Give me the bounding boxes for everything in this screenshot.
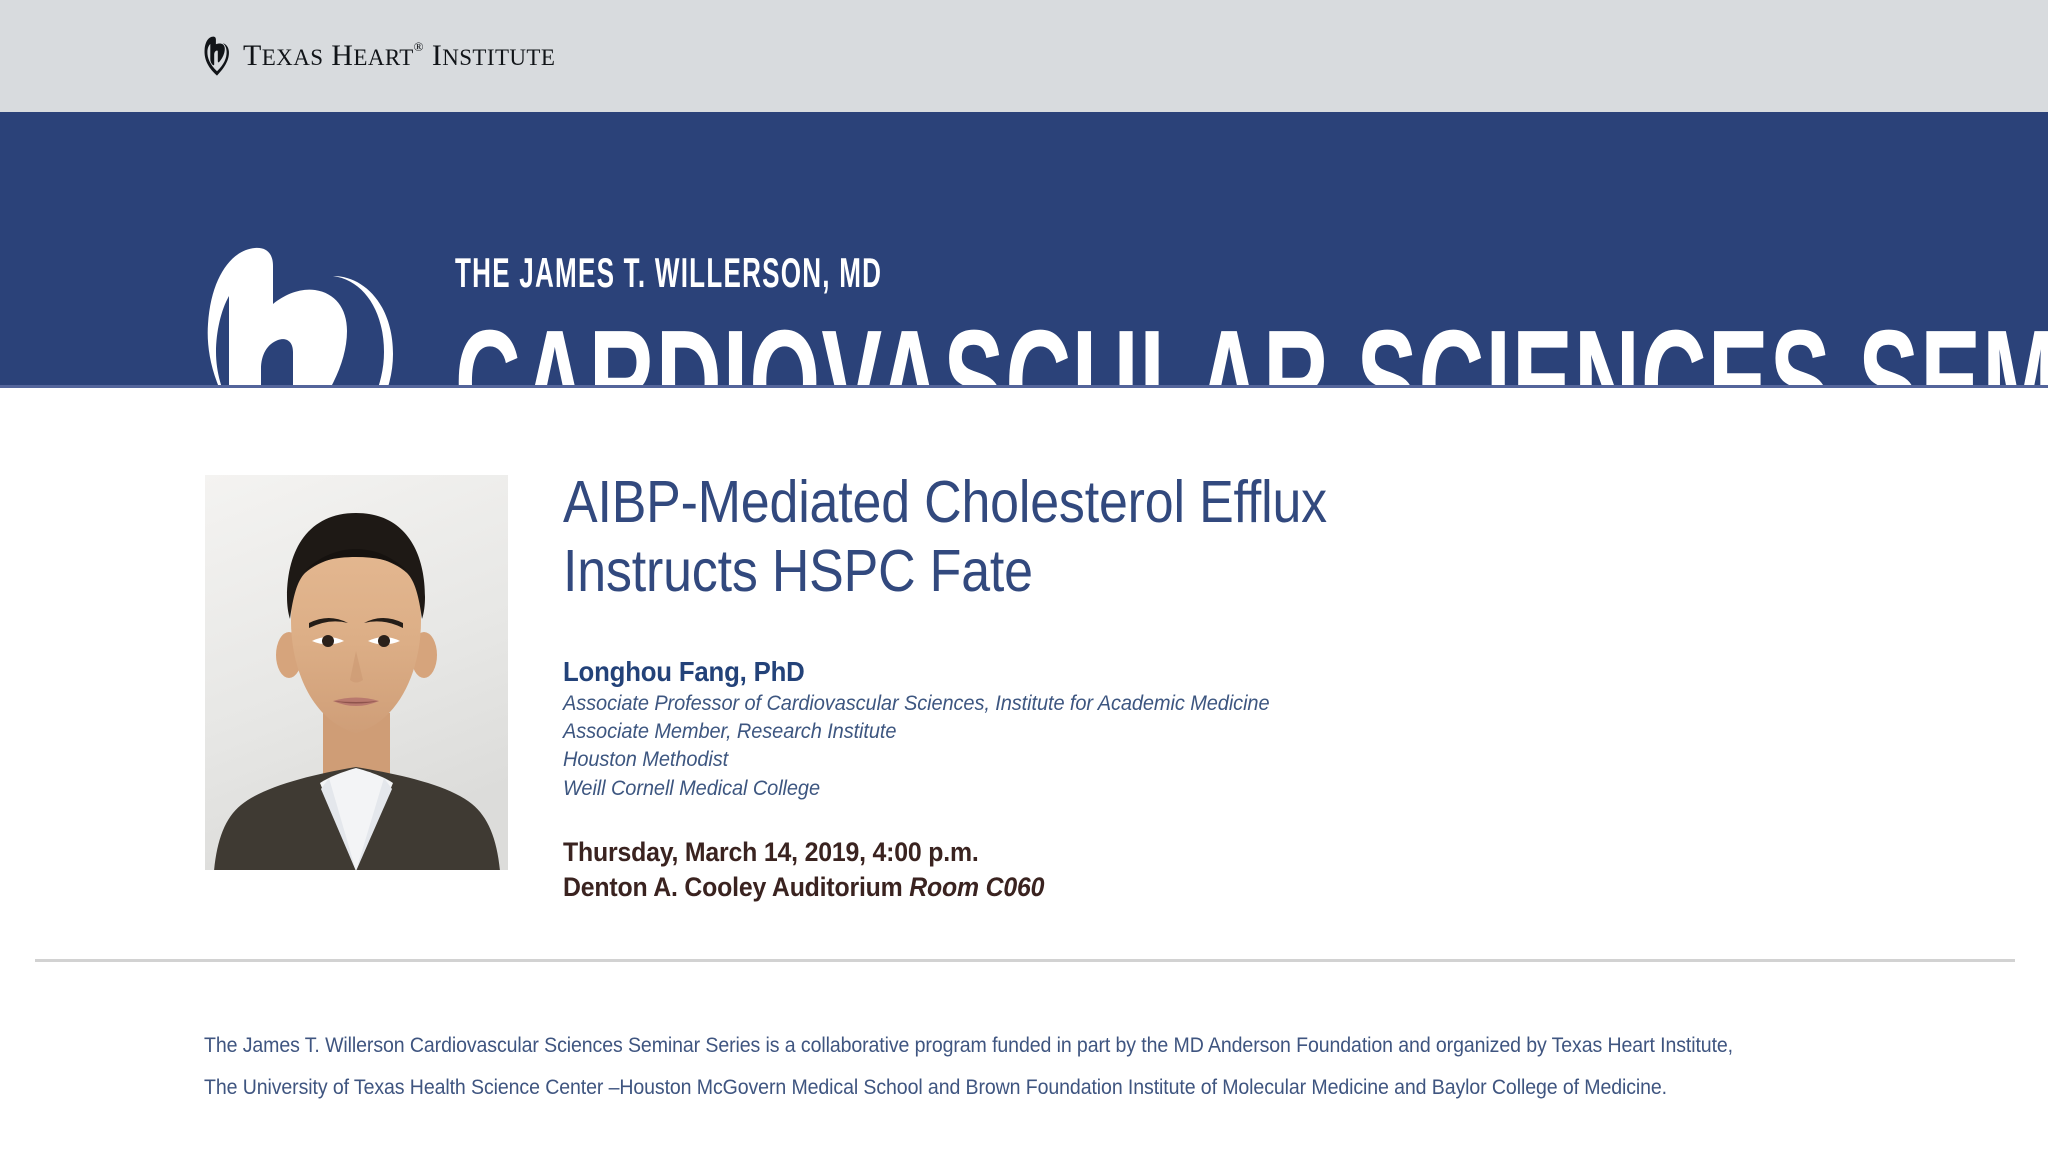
banner-text-block: THE JAMES T. WILLERSON, MD CARDIOVASCULA… — [455, 252, 2048, 388]
talk-title-line2: Instructs HSPC Fate — [563, 537, 1707, 606]
speaker-affiliation-3: Houston Methodist — [563, 745, 1772, 773]
speaker-affiliation-2: Associate Member, Research Institute — [563, 717, 1772, 745]
speaker-block: Longhou Fang, PhD Associate Professor of… — [563, 654, 1863, 802]
heart-mark-icon — [204, 36, 230, 76]
footer-line-2: The University of Texas Health Science C… — [204, 1067, 1785, 1109]
registered-mark: ® — [414, 39, 424, 54]
seminar-details: AIBP-Mediated Cholesterol Efflux Instruc… — [563, 468, 1863, 905]
banner-kicker: THE JAMES T. WILLERSON, MD — [455, 252, 2048, 294]
footer-line-1: The James T. Willerson Cardiovascular Sc… — [204, 1025, 1785, 1067]
seminar-flyer-page: TEXAS HEART® INSTITUTE THE JAMES T. WILL… — [0, 0, 2048, 1152]
talk-title: AIBP-Mediated Cholesterol Efflux Instruc… — [563, 468, 1707, 606]
banner-title: CARDIOVASCULAR SCIENCES SEMINAR — [455, 312, 2048, 388]
seminar-banner: THE JAMES T. WILLERSON, MD CARDIOVASCULA… — [0, 112, 2048, 388]
speaker-photo — [205, 475, 508, 870]
institute-name-eart: EART — [353, 45, 413, 70]
top-bar: TEXAS HEART® INSTITUTE — [0, 0, 2048, 112]
footer: The James T. Willerson Cardiovascular Sc… — [204, 1025, 1904, 1109]
texas-heart-institute-logo[interactable]: TEXAS HEART® INSTITUTE — [204, 36, 555, 76]
speaker-affiliation-4: Weill Cornell Medical College — [563, 774, 1772, 802]
seminar-venue-row: Denton A. Cooley Auditorium Room C060 — [563, 870, 1759, 905]
seminar-heart-logo-icon — [205, 236, 395, 388]
footer-divider — [35, 959, 2015, 962]
institute-name-nstitute: NSTITUTE — [442, 45, 555, 70]
seminar-datetime: Thursday, March 14, 2019, 4:00 p.m. — [563, 835, 1759, 870]
seminar-room: Room C060 — [909, 872, 1044, 902]
speaker-name: Longhou Fang, PhD — [563, 654, 1759, 689]
institute-name: TEXAS HEART® INSTITUTE — [243, 41, 555, 71]
talk-title-line1: AIBP-Mediated Cholesterol Efflux — [563, 469, 1327, 535]
seminar-venue: Denton A. Cooley Auditorium — [563, 872, 903, 902]
institute-name-exas: EXAS — [262, 45, 324, 70]
schedule-block: Thursday, March 14, 2019, 4:00 p.m. Dent… — [563, 835, 1863, 905]
speaker-affiliation-1: Associate Professor of Cardiovascular Sc… — [563, 689, 1772, 717]
